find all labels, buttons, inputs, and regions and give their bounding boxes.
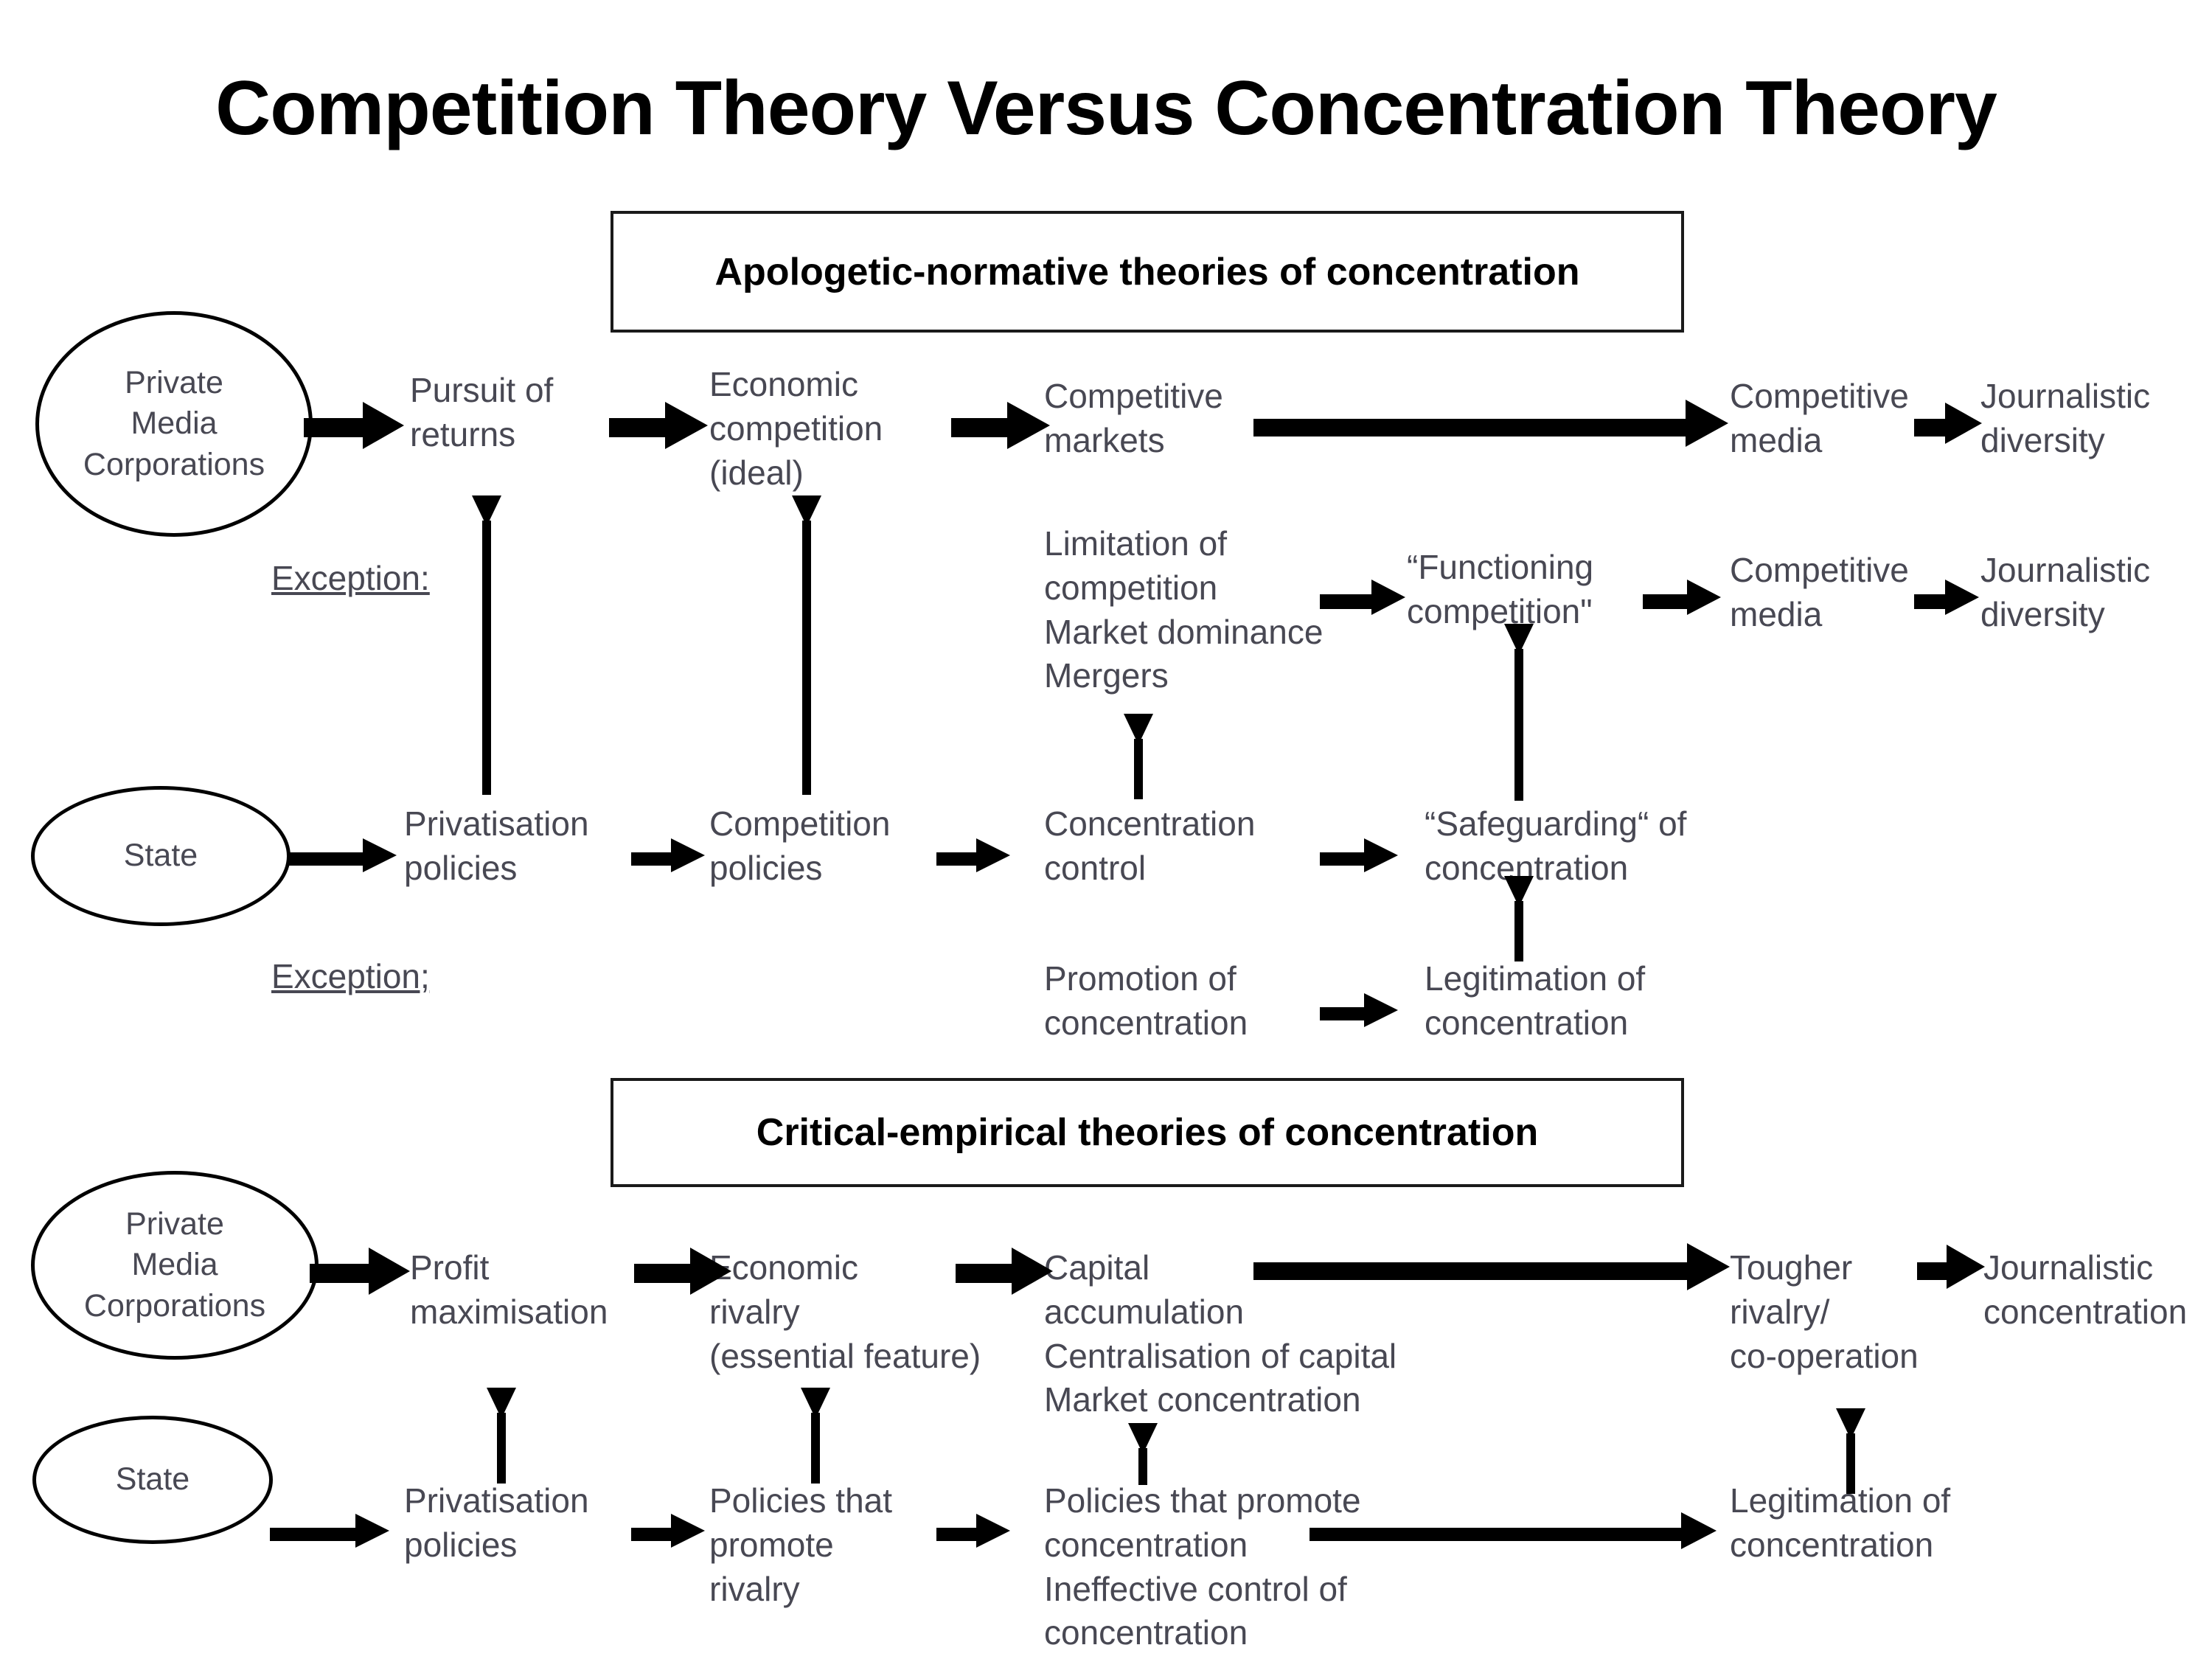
arrow-safeguarding-up-to-functioning xyxy=(1504,624,1534,801)
ellipse-private-media-corporations-top-label: Private Media Corporations xyxy=(83,363,265,484)
node-legitimation-of-concentration-top: Legitimation of concentration xyxy=(1425,957,1734,1046)
arrow-competition-policies-up-to-economic xyxy=(792,495,821,795)
node-functioning-competition: “Functioning competition" xyxy=(1407,546,1650,634)
node-policies-promote-rivalry: Policies that promote rivalry xyxy=(709,1479,931,1611)
node-profit-maximisation: Profit maximisation xyxy=(410,1246,653,1335)
section-header-apologetic: Apologetic-normative theories of concent… xyxy=(611,211,1684,333)
node-promotion-of-concentration: Promotion of concentration xyxy=(1044,957,1324,1046)
diagram-canvas: Competition Theory Versus Concentration … xyxy=(0,0,2212,1659)
arrow-privatisation-up-to-pursuit xyxy=(472,495,501,795)
node-economic-competition-ideal: Economic competition (ideal) xyxy=(709,363,931,495)
node-limitation-of-competition: Limitation of competition Market dominan… xyxy=(1044,522,1427,698)
arrow-legitimation-up-to-safeguarding xyxy=(1504,876,1534,961)
node-privatisation-policies-top: Privatisation policies xyxy=(404,802,625,891)
arrow-legitimation-up-to-tougher-rivalry xyxy=(1836,1408,1865,1494)
node-safeguarding-of-concentration: “Safeguarding“ of concentration xyxy=(1425,802,1734,891)
ellipse-state-top: State xyxy=(31,786,291,926)
arrow-promote-rivalry-up-to-economic-rivalry xyxy=(801,1388,830,1484)
node-legitimation-of-concentration-bottom: Legitimation of concentration xyxy=(1730,1479,2025,1568)
exception-label-top: Exception: xyxy=(271,558,430,598)
section-header-apologetic-label: Apologetic-normative theories of concent… xyxy=(714,250,1579,294)
arrow-promote-concentration-up-to-capital xyxy=(1128,1423,1158,1485)
node-policies-promote-concentration: Policies that promote concentration Inef… xyxy=(1044,1479,1457,1655)
arrow-control-up-to-limitation xyxy=(1124,714,1153,799)
node-competitive-media-2: Competitive media xyxy=(1730,549,1944,637)
node-journalistic-diversity-1: Journalistic diversity xyxy=(1980,375,2202,463)
ellipse-state-bottom: State xyxy=(32,1416,273,1544)
section-header-critical: Critical-empirical theories of concentra… xyxy=(611,1078,1684,1187)
node-privatisation-policies-bottom: Privatisation policies xyxy=(404,1479,625,1568)
node-competitive-markets: Competitive markets xyxy=(1044,375,1265,463)
exception-label-bottom: Exception; xyxy=(271,956,430,996)
section-header-critical-label: Critical-empirical theories of concentra… xyxy=(757,1110,1538,1155)
ellipse-private-media-corporations-bottom: Private Media Corporations xyxy=(31,1171,319,1360)
ellipse-private-media-corporations-top: Private Media Corporations xyxy=(35,311,313,537)
node-competition-policies: Competition policies xyxy=(709,802,931,891)
node-journalistic-diversity-2: Journalistic diversity xyxy=(1980,549,2202,637)
node-journalistic-concentration: Journalistic concentration xyxy=(1983,1246,2212,1335)
ellipse-state-top-label: State xyxy=(124,835,198,876)
page-title: Competition Theory Versus Concentration … xyxy=(0,65,2212,153)
ellipse-private-media-corporations-bottom-label: Private Media Corporations xyxy=(84,1204,265,1326)
arrow-privatisation-up-to-profit xyxy=(487,1388,516,1484)
node-concentration-control: Concentration control xyxy=(1044,802,1295,891)
node-competitive-media-1: Competitive media xyxy=(1730,375,1944,463)
ellipse-state-bottom-label: State xyxy=(116,1459,189,1500)
node-pursuit-of-returns: Pursuit of returns xyxy=(410,369,594,457)
